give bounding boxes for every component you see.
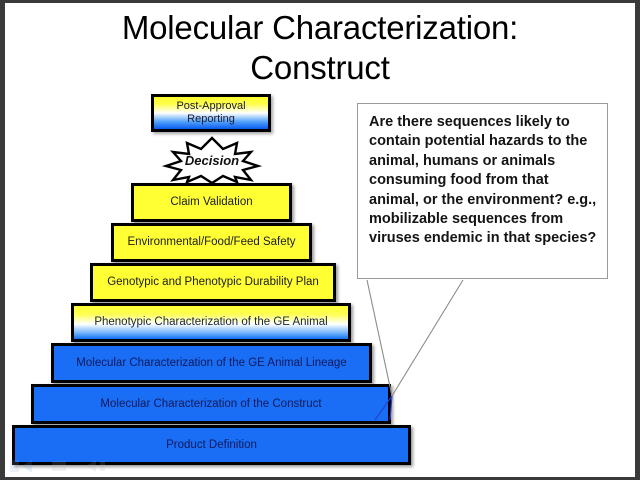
tier-label: Molecular Characterization of the GE Ani… [76, 357, 346, 370]
decision-starburst-shape [150, 136, 274, 184]
tier-phenotypic-characterization-ge-animal: Phenotypic Characterization of the GE An… [71, 303, 351, 342]
slide-canvas: Molecular Characterization: Construct Po… [0, 0, 640, 480]
player-controls-ghost-icon [8, 455, 118, 477]
tier-claim-validation: Claim Validation [131, 183, 292, 222]
post-approval-line-2: Reporting [187, 113, 235, 126]
tier-label: Environmental/Food/Feed Safety [127, 236, 295, 249]
tier-label: Genotypic and Phenotypic Durability Plan [107, 276, 319, 289]
tier-molecular-characterization-construct: Molecular Characterization of the Constr… [31, 384, 391, 424]
post-approval-line-1: Post-Approval [176, 100, 245, 113]
callout-body-text: Are there sequences likely to contain po… [369, 113, 597, 249]
tier-label: Product Definition [166, 439, 257, 452]
slide-title: Molecular Characterization: Construct [0, 8, 640, 88]
tier-molecular-characterization-ge-animal-lineage: Molecular Characterization of the GE Ani… [51, 343, 372, 383]
tier-label: Phenotypic Characterization of the GE An… [94, 316, 327, 329]
callout-text-box: Are there sequences likely to contain po… [357, 103, 608, 279]
tier-label: Claim Validation [170, 196, 252, 209]
tier-genotypic-phenotypic-durability-plan: Genotypic and Phenotypic Durability Plan [90, 263, 336, 302]
frame-edge-top [0, 0, 640, 3]
tier-label: Molecular Characterization of the Constr… [100, 398, 321, 411]
tier-environmental-food-feed-safety: Environmental/Food/Feed Safety [111, 223, 312, 262]
post-approval-reporting-box: Post-Approval Reporting [151, 94, 271, 132]
